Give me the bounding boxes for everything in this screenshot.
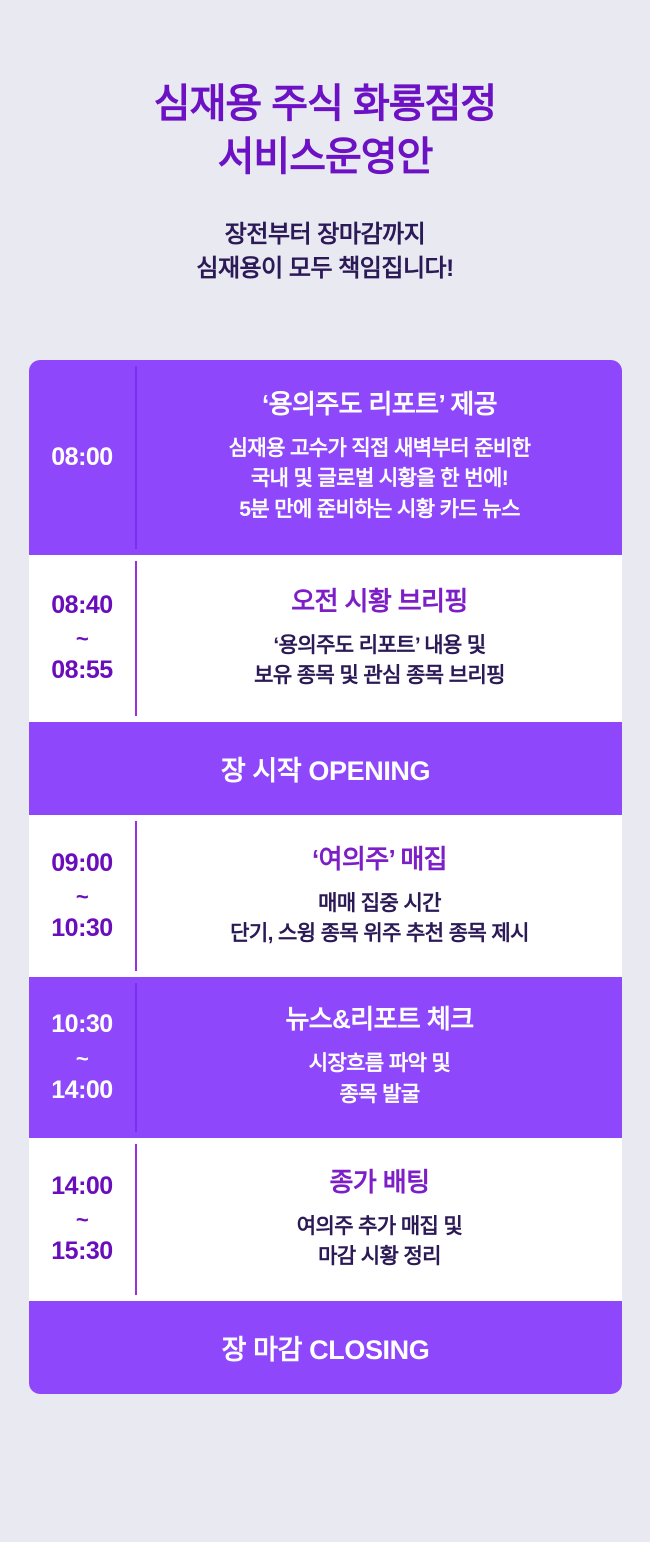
row-heading: ‘여의주’ 매집 [153,843,606,877]
page-subtitle: 장전부터 장마감까지 심재용이 모두 책임집니다! [0,184,650,286]
content-cell: 뉴스&리포트 체크 시장흐름 파악 및 종목 발굴 [137,977,622,1138]
content-cell: 오전 시황 브리핑 ‘용의주도 리포트’ 내용 및 보유 종목 및 관심 종목 … [137,555,622,722]
banner-market-open: 장 시작 OPENING [29,722,622,815]
content-cell: ‘여의주’ 매집 매매 집중 시간 단기, 스윙 종목 위주 추천 종목 제시 [137,815,622,978]
time-start: 08:40 [51,588,112,624]
row-heading: ‘용의주도 리포트’ 제공 [153,388,606,422]
row-body: 시장흐름 파악 및 종목 발굴 [153,1049,606,1110]
schedule-card: 08:00 ‘용의주도 리포트’ 제공 심재용 고수가 직접 새벽부터 준비한 … [29,360,622,1394]
time-separator: ~ [76,1043,88,1073]
row-heading: 종가 배팅 [153,1166,606,1200]
row-body: 심재용 고수가 직접 새벽부터 준비한 국내 및 글로벌 시황을 한 번에! 5… [153,434,606,525]
row-heading: 뉴스&리포트 체크 [153,1003,606,1037]
time-end: 14:00 [51,1073,112,1109]
row-body: 여의주 추가 매집 및 마감 시황 정리 [153,1212,606,1273]
content-cell: 종가 배팅 여의주 추가 매집 및 마감 시황 정리 [137,1138,622,1301]
page-title: 심재용 주식 화룡점정 서비스운영안 [0,78,650,184]
time-end: 15:30 [51,1234,112,1270]
time-separator: ~ [76,881,88,911]
time-separator: ~ [76,1204,88,1234]
content-cell: ‘용의주도 리포트’ 제공 심재용 고수가 직접 새벽부터 준비한 국내 및 글… [137,360,622,555]
row-body: 매매 집중 시간 단기, 스윙 종목 위주 추천 종목 제시 [153,889,606,950]
schedule-row-0840: 08:40 ~ 08:55 오전 시황 브리핑 ‘용의주도 리포트’ 내용 및 … [29,555,622,722]
time-cell: 08:40 ~ 08:55 [29,555,135,722]
header: 심재용 주식 화룡점정 서비스운영안 장전부터 장마감까지 심재용이 모두 책임… [0,0,650,286]
time-start: 09:00 [51,846,112,882]
schedule-row-0900: 09:00 ~ 10:30 ‘여의주’ 매집 매매 집중 시간 단기, 스윙 종… [29,815,622,978]
time-cell: 14:00 ~ 15:30 [29,1138,135,1301]
schedule-row-0800: 08:00 ‘용의주도 리포트’ 제공 심재용 고수가 직접 새벽부터 준비한 … [29,360,622,555]
time-end: 10:30 [51,911,112,947]
row-body: ‘용의주도 리포트’ 내용 및 보유 종목 및 관심 종목 브리핑 [153,631,606,692]
time-cell: 09:00 ~ 10:30 [29,815,135,978]
time-start: 10:30 [51,1007,112,1043]
banner-market-close: 장 마감 CLOSING [29,1301,622,1394]
time-start: 14:00 [51,1169,112,1205]
schedule-row-1400: 14:00 ~ 15:30 종가 배팅 여의주 추가 매집 및 마감 시황 정리 [29,1138,622,1301]
time-separator: ~ [76,623,88,653]
row-heading: 오전 시황 브리핑 [153,585,606,619]
time-end: 08:55 [51,653,112,689]
schedule-row-1030: 10:30 ~ 14:00 뉴스&리포트 체크 시장흐름 파악 및 종목 발굴 [29,977,622,1138]
time-cell: 10:30 ~ 14:00 [29,977,135,1138]
time-start: 08:00 [51,440,112,476]
time-cell: 08:00 [29,360,135,555]
